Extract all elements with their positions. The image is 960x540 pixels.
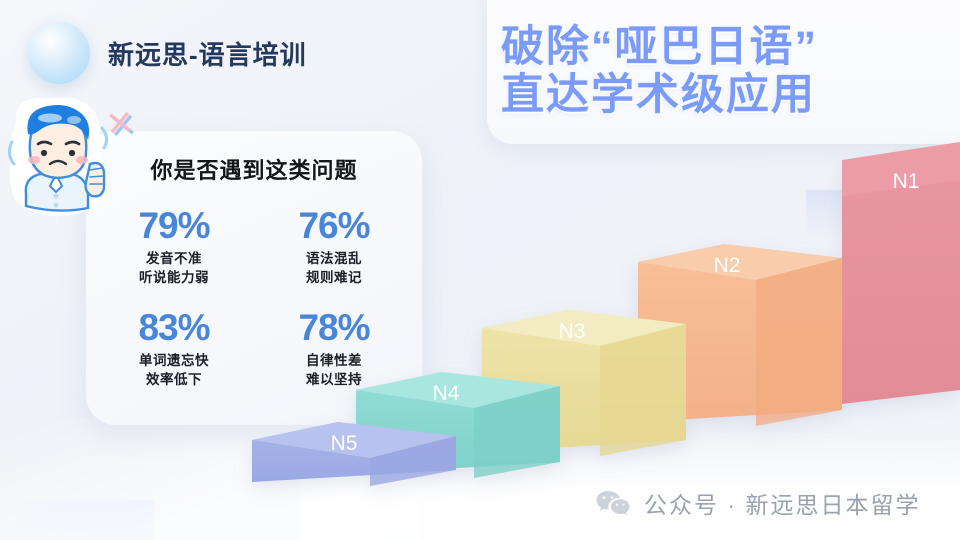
stat-percent: 79% xyxy=(94,207,254,246)
svg-text:N4: N4 xyxy=(433,382,460,405)
headline-line-1: 破除“哑巴日语” xyxy=(501,24,960,70)
stat-percent: 83% xyxy=(94,309,254,348)
decorative-band-left xyxy=(18,500,154,540)
stat-desc-line-2: 难以坚持 xyxy=(306,372,362,387)
stat-description: 单词遗忘快 效率低下 xyxy=(94,351,254,389)
stat-item: 79% 发音不准 听说能力弱 xyxy=(94,207,254,287)
footer: 公众号 · 新远思日本留学 xyxy=(596,486,920,520)
headline-card: 破除“哑巴日语” 直达学术级应用 xyxy=(487,0,960,144)
stat-desc-line-1: 单词遗忘快 xyxy=(139,353,209,368)
svg-text:N1: N1 xyxy=(893,170,920,193)
stats-grid: 79% 发音不准 听说能力弱 76% 语法混乱 规则难记 83% 单词遗忘快 效… xyxy=(94,207,414,389)
stat-description: 发音不准 听说能力弱 xyxy=(94,249,254,287)
brand-header: 新远思-语言培训 xyxy=(28,22,307,84)
stat-desc-line-2: 效率低下 xyxy=(146,372,202,387)
stat-item: 83% 单词遗忘快 效率低下 xyxy=(94,309,254,389)
x-mark-icon: ✕ xyxy=(98,102,142,146)
stat-desc-line-1: 发音不准 xyxy=(146,251,202,266)
svg-text:N2: N2 xyxy=(714,254,741,277)
stat-desc-line-2: 听说能力弱 xyxy=(139,270,209,285)
headline-line-2: 直达学术级应用 xyxy=(501,72,960,118)
svg-text:N5: N5 xyxy=(331,432,358,455)
wechat-icon xyxy=(596,490,630,516)
chart-bar-n1: N1 xyxy=(842,142,960,404)
brand-title: 新远思-语言培训 xyxy=(108,35,307,72)
stat-desc-line-1: 自律性差 xyxy=(306,353,362,368)
footer-text: 公众号 · 新远思日本留学 xyxy=(644,486,920,520)
sphere-logo-icon xyxy=(28,22,90,84)
jlpt-staircase-chart: N1 N2 N3 N4 xyxy=(372,140,960,490)
worried-boy-sticker-icon xyxy=(6,98,110,216)
stat-desc-line-1: 语法混乱 xyxy=(306,251,362,266)
svg-text:N3: N3 xyxy=(559,320,586,343)
stat-desc-line-2: 规则难记 xyxy=(306,270,362,285)
